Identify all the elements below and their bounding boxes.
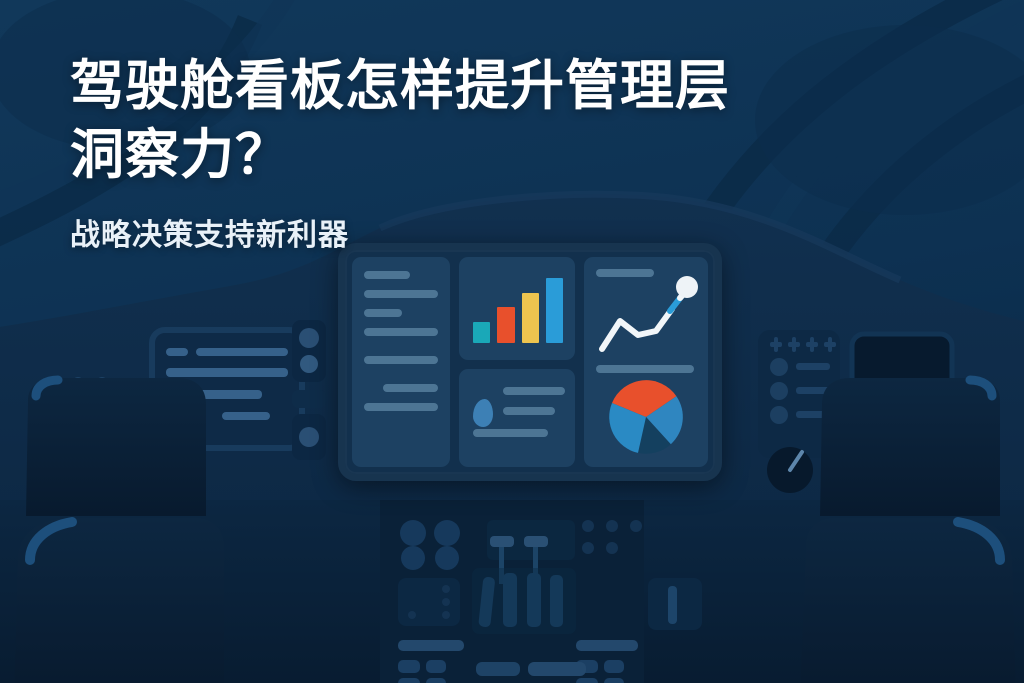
leaf-blob-icon	[473, 399, 493, 427]
primary-dashboard-display[interactable]	[338, 243, 722, 481]
bar-chart	[473, 275, 563, 343]
right-indicator-rows	[770, 358, 830, 424]
bar-4	[546, 278, 563, 343]
note-line	[503, 387, 565, 395]
list-item	[364, 403, 438, 411]
knob-icon	[300, 355, 318, 373]
note-line	[503, 407, 555, 415]
analytics-card[interactable]	[584, 257, 708, 467]
list-item	[364, 309, 402, 317]
list-item	[383, 384, 438, 392]
list-item	[364, 356, 438, 364]
console-center-pills	[476, 662, 586, 676]
list-item	[364, 290, 438, 298]
dashboard-list-panel[interactable]	[352, 257, 450, 467]
bar-chart-card[interactable]	[459, 257, 575, 360]
bar-3	[522, 293, 539, 343]
list-item	[364, 328, 438, 336]
headline-block: 驾驶舱看板怎样提升管理层 洞察力？ 战略决策支持新利器	[70, 52, 900, 255]
knob-icon	[299, 427, 319, 447]
cockpit-dashboard-poster: 驾驶舱看板怎样提升管理层 洞察力？ 战略决策支持新利器	[0, 0, 1024, 683]
page-subtitle: 战略决策支持新利器	[70, 216, 900, 255]
page-title: 驾驶舱看板怎样提升管理层 洞察力？	[70, 52, 900, 190]
bar-1	[473, 322, 490, 342]
console-left-subpanel	[398, 578, 460, 626]
note-line	[473, 429, 548, 437]
line-endpoint-marker	[676, 276, 698, 298]
knob-icon	[299, 328, 319, 348]
list-item	[364, 271, 410, 279]
left-switch	[292, 390, 326, 408]
trend-line-chart	[594, 269, 698, 359]
pilot-seat-left	[14, 378, 224, 683]
pilot-seat-right	[800, 378, 1016, 683]
note-card[interactable]	[459, 369, 575, 467]
chart-divider-placeholder	[596, 365, 694, 373]
share-pie-chart	[596, 375, 696, 459]
bar-2	[497, 307, 514, 342]
